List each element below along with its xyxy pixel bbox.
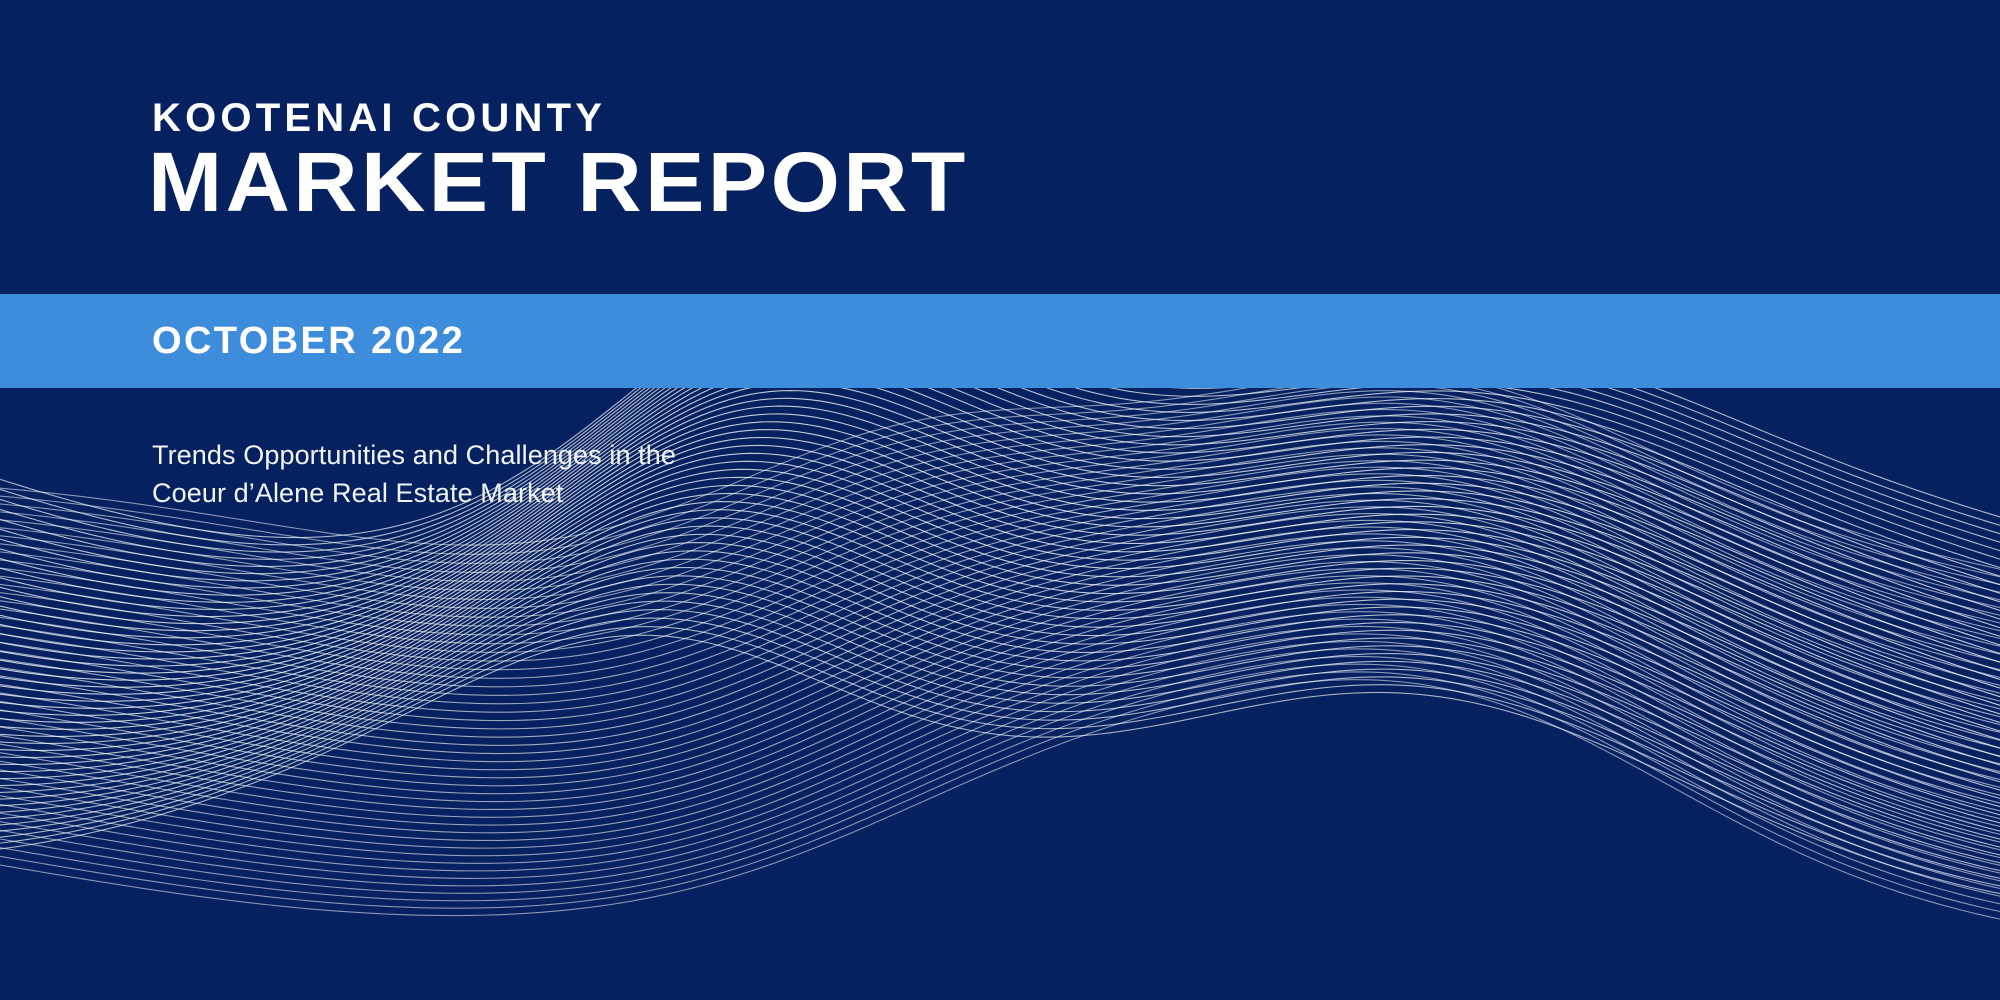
wave-line [0,604,2000,842]
page-title: MARKET REPORT [148,140,969,224]
market-report-poster: KOOTENAI COUNTY MARKET REPORT OCTOBER 20… [0,0,2000,1000]
wave-line [0,634,2000,873]
wave-line [0,510,2000,774]
wave-line [0,635,2000,893]
wave-line [0,618,2000,878]
wave-line [0,391,2000,645]
wave-line [0,657,2000,897]
accent-band: OCTOBER 2022 [0,294,2000,388]
wave-line [0,494,2000,717]
report-date: OCTOBER 2022 [152,322,465,360]
wave-line [0,672,2000,912]
wave-line [0,520,2000,748]
wave-line [0,543,2000,807]
subtitle-line-2: Coeur d’Alene Real Estate Market [152,474,676,512]
wave-line [0,526,2000,790]
wave-line [0,559,2000,823]
wave-line [0,576,2000,839]
wave-line [0,627,2000,886]
wave-line [0,583,2000,819]
wave-line [0,527,2000,756]
wave-line [0,487,2000,709]
wave-line [0,555,2000,788]
wave-line [0,593,2000,855]
wave-line [0,649,2000,889]
wave-line [0,680,2000,920]
wave-line [0,477,2000,739]
wave-line [0,548,2000,780]
wave-line [0,610,2000,871]
wave-line [0,541,2000,772]
wave-line [0,576,2000,811]
wave-line [0,597,2000,834]
wave-line [0,534,2000,798]
wave-line [0,584,2000,847]
header-block: KOOTENAI COUNTY MARKET REPORT [0,0,2000,294]
wave-line [0,514,2000,741]
eyebrow-kootenai-county: KOOTENAI COUNTY [152,98,606,138]
wave-line [0,551,2000,815]
wave-line [0,601,2000,863]
wave-line [0,502,2000,765]
wave-line [0,590,2000,827]
wave-line [0,619,2000,858]
wave-line [0,500,2000,724]
wave-line [0,626,2000,865]
subtitle: Trends Opportunities and Challenges in t… [152,436,676,513]
wave-line [0,568,2000,832]
wave-line [0,534,2000,764]
wave-line [0,493,2000,756]
wave-line [0,518,2000,782]
wave-line [0,664,2000,904]
wave-line [0,612,2000,850]
wave-line [0,480,2000,701]
wave-line [0,569,2000,803]
wave-line [0,507,2000,733]
wave-line [0,641,2000,880]
subtitle-line-1: Trends Opportunities and Challenges in t… [152,436,676,474]
wave-line [0,562,2000,796]
wave-line [0,485,2000,748]
